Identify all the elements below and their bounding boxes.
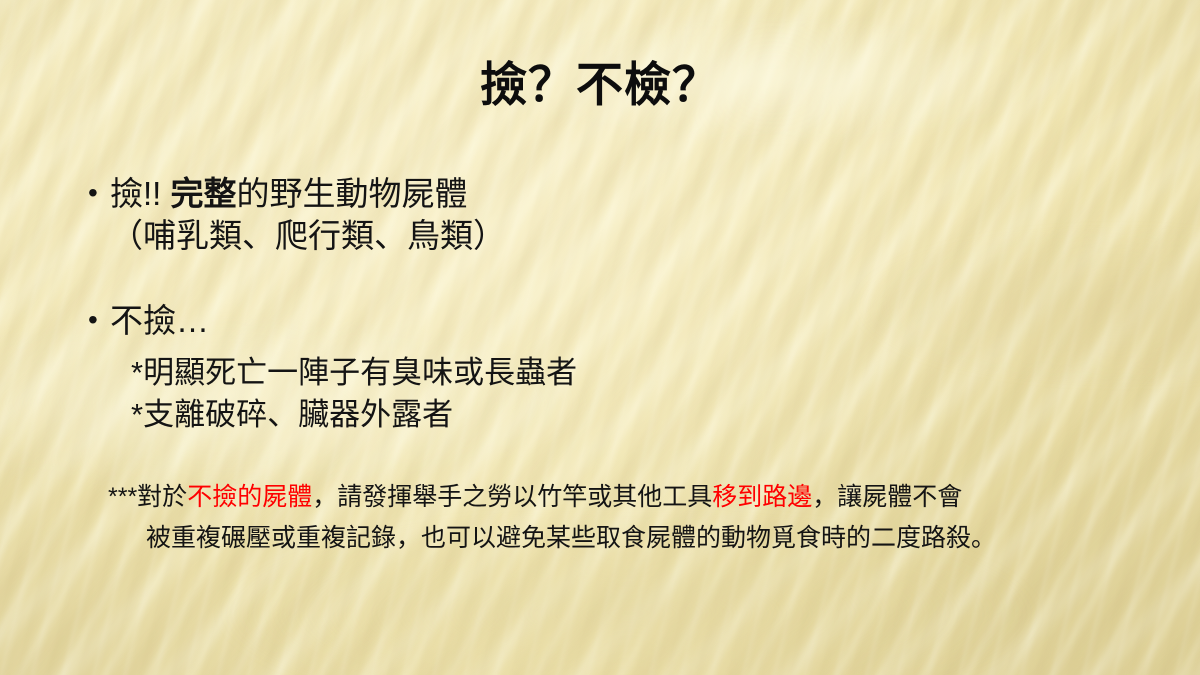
- note-segment-plain-2: ，請發揮舉手之勞以竹竿或其他工具: [312, 483, 712, 511]
- bullet-item-pick-up: • 撿!! 完整的野生動物屍體 （哺乳類、爬行類、鳥類）: [88, 173, 506, 256]
- bullet-item-do-not-pick-up: • 不撿…: [88, 300, 209, 342]
- presentation-slide: 撿？不檢？ • 撿!! 完整的野生動物屍體 （哺乳類、爬行類、鳥類） • 不撿……: [0, 0, 1200, 675]
- bullet-dot-icon: •: [88, 300, 110, 341]
- bullet-line: • 撿!! 完整的野生動物屍體: [88, 173, 506, 215]
- slide-title: 撿？不檢？: [0, 57, 1200, 112]
- note-segment-highlight-corpse: 不撿的屍體: [187, 483, 312, 511]
- sub-item: *支離破碎、臟器外露者: [131, 394, 577, 436]
- note-line-1: ***對於不撿的屍體，請發揮舉手之勞以竹竿或其他工具移到路邊，讓屍體不會: [108, 477, 1138, 518]
- note-segment-highlight-move-roadside: 移到路邊: [712, 483, 812, 511]
- bullet-dot-icon: •: [88, 173, 110, 214]
- bullet-text: 撿!! 完整的野生動物屍體: [110, 173, 468, 215]
- note-segment-plain-3: ，讓屍體不會: [812, 483, 962, 511]
- note-line-2: 被重複碾壓或重複記錄，也可以避免某些取食屍體的動物覓食時的二度路殺。: [108, 518, 1138, 559]
- sub-item-list: *明顯死亡一陣子有臭味或長蟲者 *支離破碎、臟器外露者: [131, 352, 577, 436]
- bullet-line: • 不撿…: [88, 300, 209, 342]
- slide-content: 撿？不檢？ • 撿!! 完整的野生動物屍體 （哺乳類、爬行類、鳥類） • 不撿……: [0, 0, 1200, 675]
- bullet-text-prefix: 撿!!: [110, 175, 171, 212]
- bullet-text-suffix: 的野生動物屍體: [237, 175, 468, 212]
- bullet-subline-categories: （哺乳類、爬行類、鳥類）: [110, 215, 506, 257]
- note-segment-plain: ***對於: [108, 483, 187, 511]
- note-paragraph: ***對於不撿的屍體，請發揮舉手之勞以竹竿或其他工具移到路邊，讓屍體不會 被重複…: [108, 477, 1138, 558]
- sub-item: *明顯死亡一陣子有臭味或長蟲者: [131, 352, 577, 394]
- bullet-text-emphasis: 完整: [171, 175, 237, 212]
- bullet-text: 不撿…: [110, 300, 209, 342]
